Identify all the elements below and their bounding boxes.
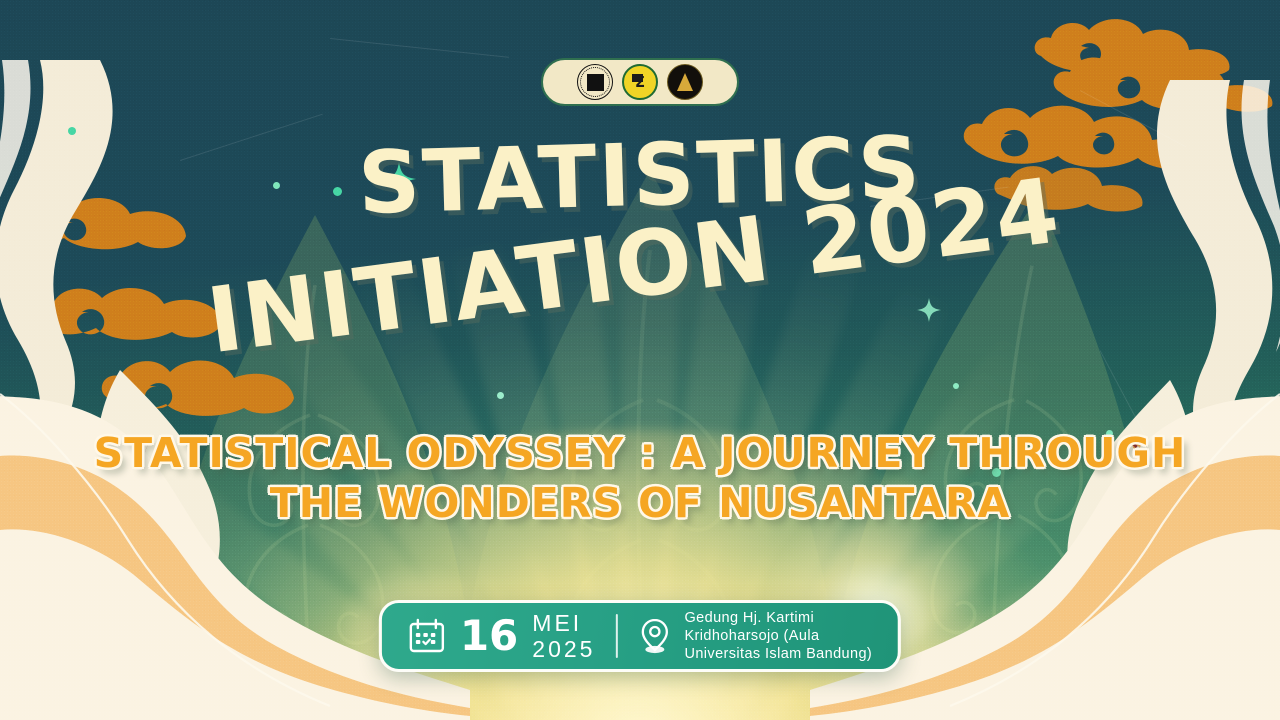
organizer-logo-bar: Σ [541, 58, 739, 106]
event-day: 16 [460, 616, 518, 656]
event-month: MEI [532, 612, 595, 635]
info-divider [615, 614, 617, 658]
location-pin-icon [637, 617, 671, 655]
event-info-bar: 16 MEI 2025 Gedung Hj. Kartimi Kridhohar… [379, 600, 901, 672]
unisba-logo-icon [577, 64, 613, 100]
event-venue: Gedung Hj. Kartimi Kridhoharsojo (Aula U… [684, 609, 872, 663]
himsa-sigma-logo-icon: Σ [622, 64, 658, 100]
calendar-icon [408, 617, 446, 655]
event-venue-group: Gedung Hj. Kartimi Kridhoharsojo (Aula U… [637, 609, 872, 663]
poster-canvas: Σ STATISTICS INITIATION 2024 STATISTICAL… [0, 0, 1280, 720]
gunungan-logo-icon [667, 64, 703, 100]
event-date-group: 16 MEI 2025 [408, 612, 596, 661]
event-year: 2025 [532, 638, 595, 661]
event-month-year: MEI 2025 [532, 612, 595, 661]
